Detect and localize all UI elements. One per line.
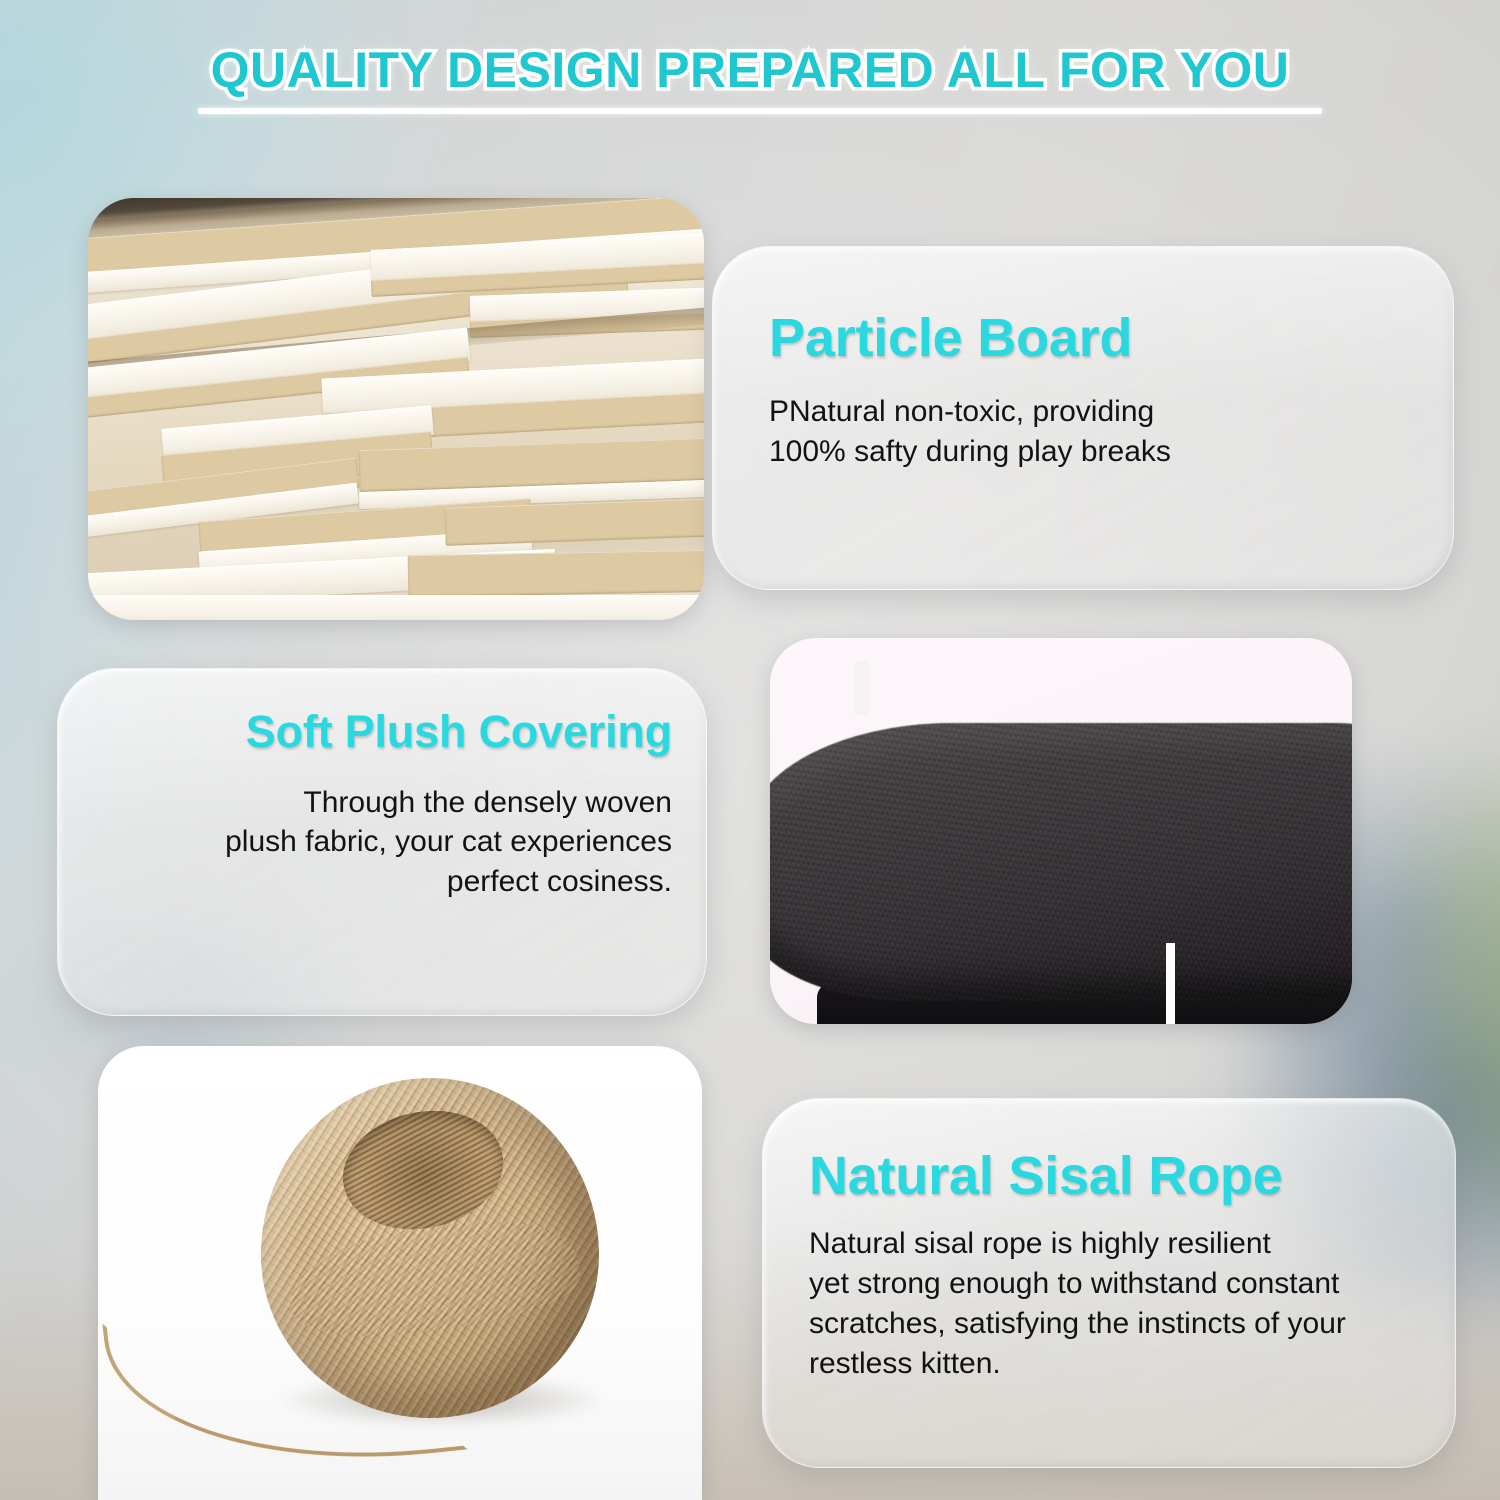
card-body-soft-plush-covering: Through the densely woven plush fabric, … [58,783,672,903]
card-body-line: scratches, satisfying the instincts of y… [809,1304,1449,1344]
card-body-line: Through the densely woven [58,783,672,823]
sisal-rope-scene [98,1046,702,1500]
card-body-line: plush fabric, your cat experiences [58,822,672,862]
card-body-particle-board: PNatural non-toxic, providing 100% safty… [769,392,1453,472]
particle-board-photo [88,198,704,620]
page-title: QUALITY DESIGN PREPARED ALL FOR YOU [211,44,1290,97]
feature-card-soft-plush-covering: Soft Plush Covering Through the densely … [57,668,707,1016]
board-plank [408,549,704,598]
header: QUALITY DESIGN PREPARED ALL FOR YOU [0,44,1500,97]
board-plank [88,595,704,620]
card-body-line: 100% safty during play breaks [769,432,1453,472]
particle-board-scene [88,198,704,620]
sisal-rope-photo [98,1046,702,1500]
feature-card-particle-board: Particle Board PNatural non-toxic, provi… [712,246,1454,590]
card-body-line: PNatural non-toxic, providing [769,392,1453,432]
card-title-natural-sisal-rope: Natural Sisal Rope [809,1147,1455,1206]
plush-fabric-scene [770,638,1352,1024]
card-title-particle-board: Particle Board [769,309,1453,368]
feature-card-natural-sisal-rope: Natural Sisal Rope Natural sisal rope is… [762,1098,1456,1468]
title-underline [198,108,1322,114]
card-body-line: yet strong enough to withstand constant [809,1264,1449,1304]
card-title-soft-plush-covering: Soft Plush Covering [58,707,672,757]
plush-background-highlight [854,661,870,715]
card-body-line: Natural sisal rope is highly resilient [809,1224,1449,1264]
card-body-line: restless kitten. [809,1344,1449,1384]
card-body-natural-sisal-rope: Natural sisal rope is highly resilient y… [809,1224,1455,1384]
rope-ball [261,1078,599,1419]
rope-wrap-band [282,1208,584,1350]
infographic-canvas: QUALITY DESIGN PREPARED ALL FOR YOU [0,0,1500,1500]
plush-fabric-photo [770,638,1352,1024]
plush-gap-highlight [1166,943,1175,1024]
plush-cushion [770,723,1352,1001]
card-body-line: perfect cosiness. [58,862,672,902]
